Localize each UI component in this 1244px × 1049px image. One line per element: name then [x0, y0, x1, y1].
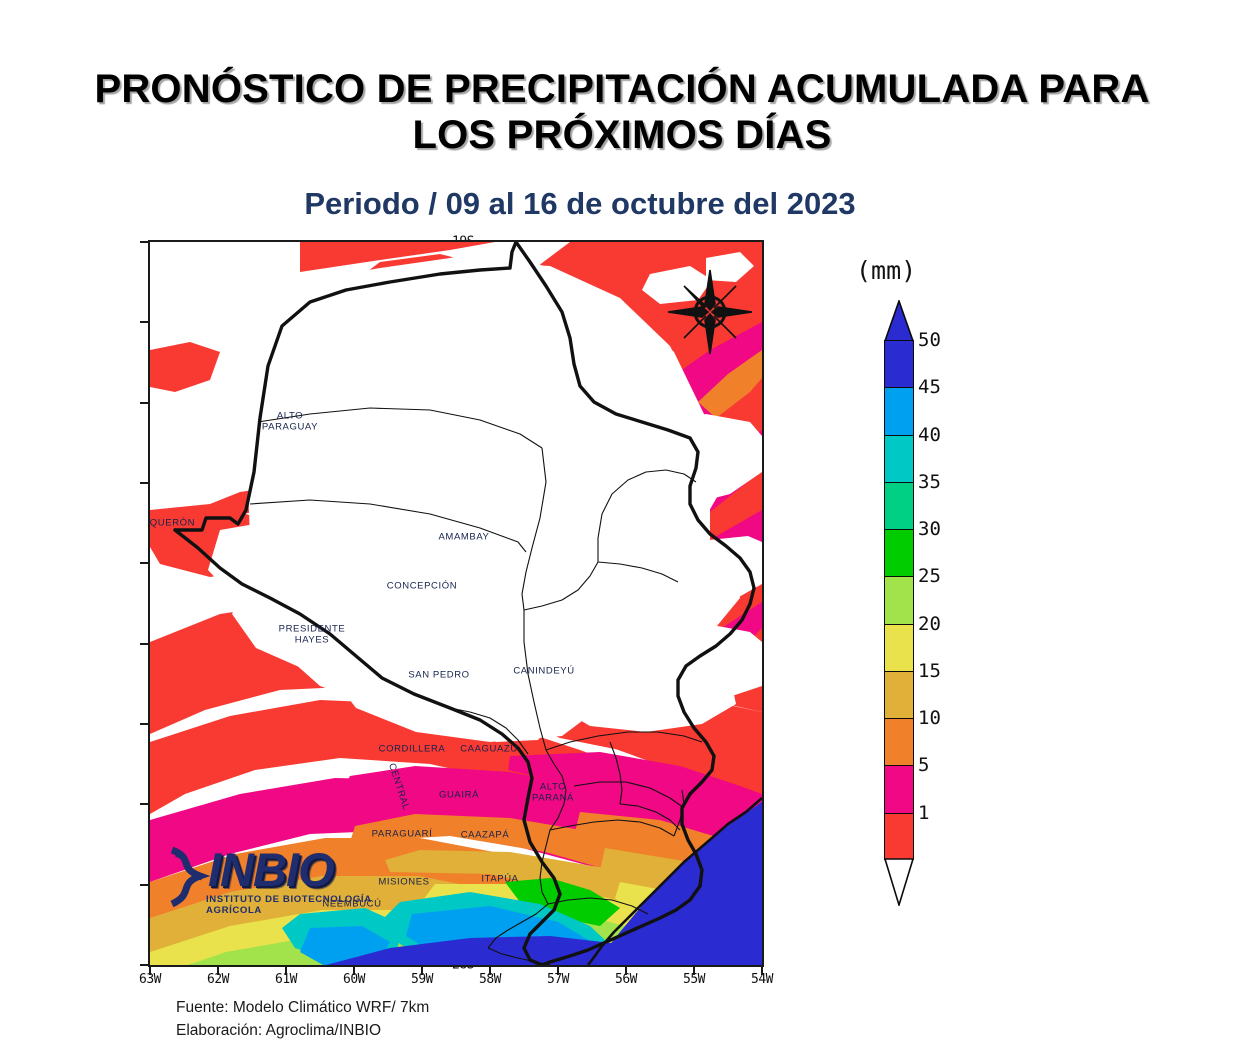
y-axis-tick: [140, 321, 148, 323]
inbio-logo-subtitle: INSTITUTO DE BIOTECNOLOGÍA AGRÍCOLA: [206, 894, 408, 916]
y-axis-tick: [140, 643, 148, 645]
map-raster: ALTO PARAGUAYBOQUERÓNAMAMBAYCONCEPCIÓNPR…: [150, 242, 762, 965]
colorbar-segment: [885, 766, 913, 813]
colorbar-tick-label: 15: [918, 660, 941, 682]
colorbar-unit-label: (mm): [856, 256, 916, 285]
colorbar-segment: [885, 577, 913, 624]
colorbar-segment: [885, 625, 913, 672]
colorbar-segment: [885, 388, 913, 435]
colorbar-segment: [885, 483, 913, 530]
compass-rose-icon: [662, 264, 758, 360]
x-axis-tick: [285, 967, 287, 975]
x-axis-tick: [761, 967, 763, 975]
slide-root: PRONÓSTICO DE PRECIPITACIÓN ACUMULADA PA…: [0, 0, 1244, 1049]
colorbar-tick-label: 25: [918, 565, 941, 587]
colorbar-tick-label: 20: [918, 613, 941, 635]
y-axis-tick: [140, 482, 148, 484]
colorbar-tick-label: 50: [918, 329, 941, 351]
y-axis-tick: [140, 402, 148, 404]
y-axis-tick: [140, 723, 148, 725]
x-axis-tick: [353, 967, 355, 975]
y-axis-tick: [140, 884, 148, 886]
inbio-logo-wordmark: INBIO: [208, 842, 334, 897]
footer-source: Fuente: Modelo Climático WRF/ 7km: [176, 996, 429, 1019]
footer-author: Elaboración: Agroclima/INBIO: [176, 1019, 429, 1042]
period-subtitle: Periodo / 09 al 16 de octubre del 2023: [0, 186, 1160, 222]
page-title: PRONÓSTICO DE PRECIPITACIÓN ACUMULADA PA…: [0, 66, 1244, 159]
colorbar[interactable]: [884, 340, 914, 860]
colorbar-tick-label: 30: [918, 518, 941, 540]
y-axis-tick: [140, 964, 148, 966]
x-axis-tick: [557, 967, 559, 975]
colorbar-under-arrow: [884, 858, 914, 906]
inbio-logo: INBIO INSTITUTO DE BIOTECNOLOGÍA AGRÍCOL…: [168, 840, 408, 914]
x-axis-tick: [149, 967, 151, 975]
x-axis-tick: [489, 967, 491, 975]
colorbar-over-arrow: [884, 300, 914, 342]
colorbar-segment: [885, 436, 913, 483]
colorbar-segment: [885, 814, 913, 861]
y-axis-tick: [140, 562, 148, 564]
colorbar-segment: [885, 341, 913, 388]
colorbar-segment: [885, 719, 913, 766]
y-axis-tick: [140, 241, 148, 243]
precipitation-map[interactable]: ALTO PARAGUAYBOQUERÓNAMAMBAYCONCEPCIÓNPR…: [148, 240, 764, 967]
colorbar-tick-label: 1: [918, 802, 929, 824]
colorbar-tick-label: 5: [918, 754, 929, 776]
inbio-dna-icon: [168, 846, 210, 908]
footer-credits: Fuente: Modelo Climático WRF/ 7km Elabor…: [176, 996, 429, 1043]
x-axis-tick: [421, 967, 423, 975]
colorbar-tick-label: 10: [918, 707, 941, 729]
colorbar-tick-label: 45: [918, 376, 941, 398]
x-axis-tick: [217, 967, 219, 975]
colorbar-segment: [885, 672, 913, 719]
x-axis-tick: [693, 967, 695, 975]
title-line-1: PRONÓSTICO DE PRECIPITACIÓN ACUMULADA PA…: [0, 66, 1244, 112]
x-axis-tick: [625, 967, 627, 975]
colorbar-segment: [885, 530, 913, 577]
title-line-2: LOS PRÓXIMOS DÍAS: [0, 112, 1244, 158]
colorbar-tick-label: 35: [918, 471, 941, 493]
y-axis-tick: [140, 803, 148, 805]
colorbar-tick-label: 40: [918, 424, 941, 446]
